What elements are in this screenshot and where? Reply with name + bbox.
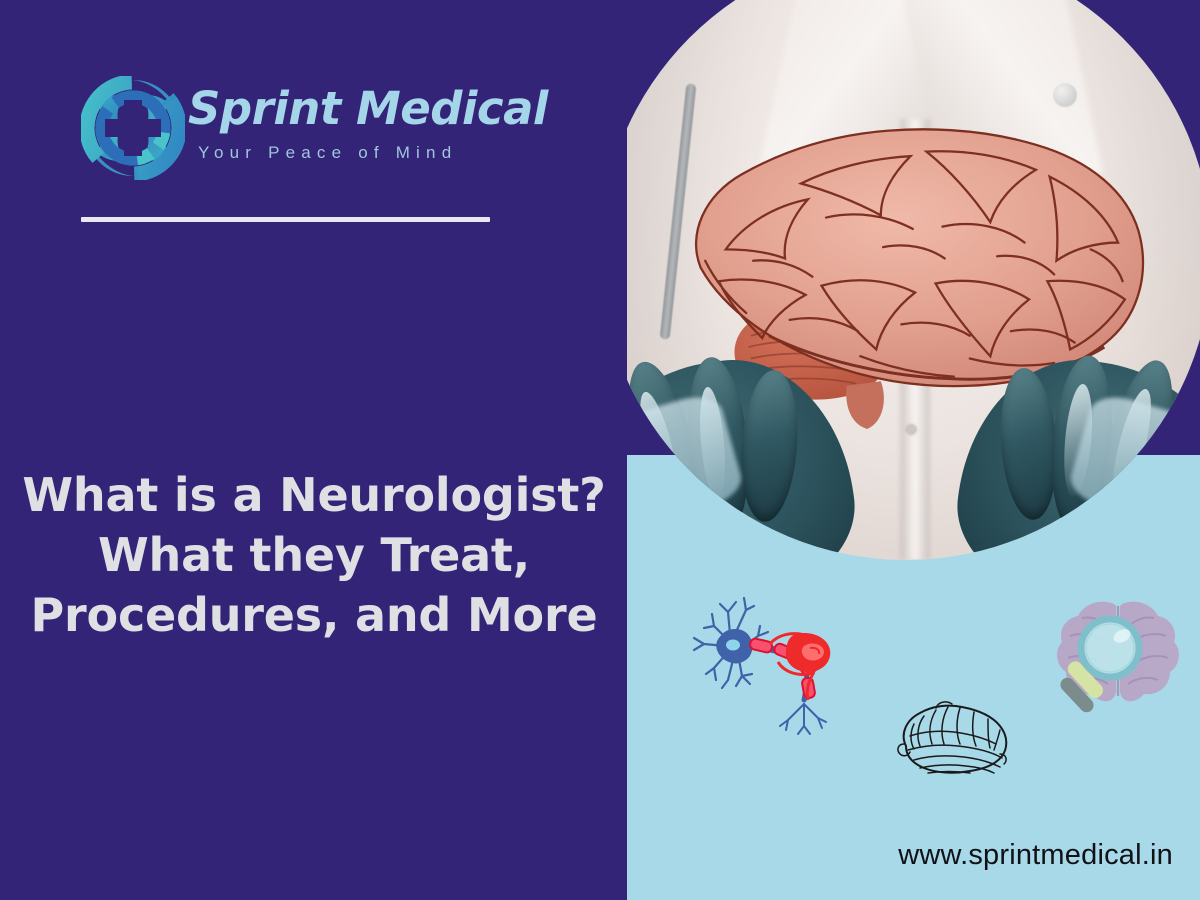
- stethoscope-bell: [1053, 83, 1077, 107]
- brand-tagline: Your Peace of Mind: [198, 143, 457, 163]
- website-url[interactable]: www.sprintmedical.in: [898, 839, 1173, 872]
- header-divider: [81, 217, 490, 222]
- brain-line-art-illustration: [884, 694, 1019, 794]
- page-title-line-2: What they Treat,: [14, 526, 614, 586]
- sprint-medical-circular-cross-logo-icon: [81, 76, 185, 180]
- page-title-line-3: Procedures, and More: [14, 586, 614, 646]
- promo-card-canvas: Sprint Medical Your Peace of Mind What i…: [0, 0, 1200, 900]
- neuron-illustration: [684, 588, 854, 753]
- magnifying-glass-brain-illustration: [1052, 592, 1184, 718]
- doctor-holding-brain-photo: [600, 0, 1200, 560]
- brand-name: Sprint Medical: [188, 82, 548, 135]
- page-title-line-1: What is a Neurologist?: [14, 466, 614, 526]
- page-title: What is a Neurologist? What they Treat, …: [14, 466, 614, 645]
- brand-logo[interactable]: Sprint Medical Your Peace of Mind: [81, 74, 501, 189]
